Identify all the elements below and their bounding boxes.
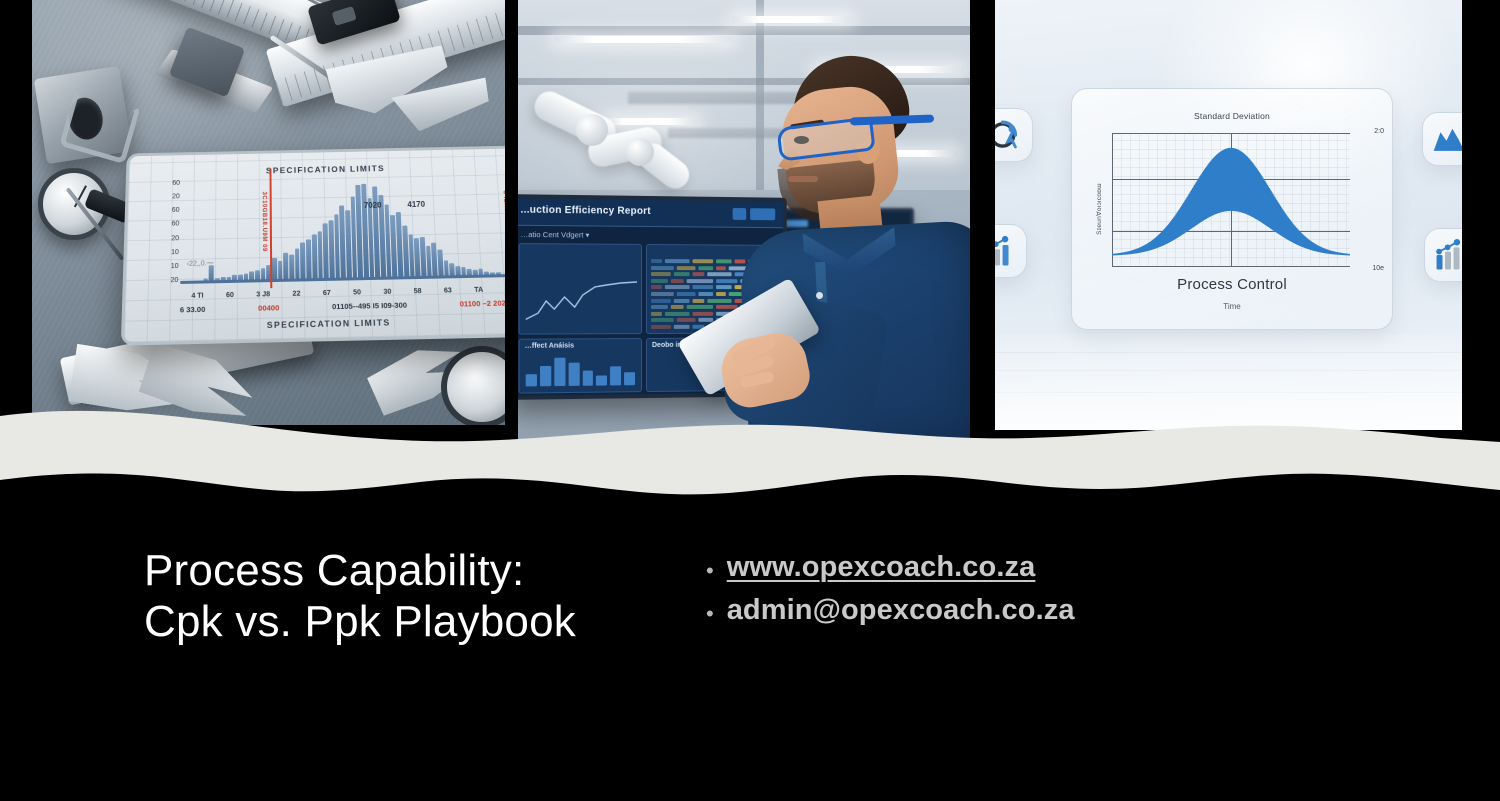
title-line-1: Process Capability:	[144, 545, 664, 596]
dashboard-title: ...uction Efficiency Report	[521, 204, 651, 217]
engineer-mouth	[788, 176, 818, 182]
engineer-figure	[728, 48, 970, 441]
bullet-icon: •	[706, 560, 714, 582]
process-control-chart-card: Standard Deviation Sɪeun∀oιɔιcoɒɯ 2:0 10…	[1071, 88, 1393, 330]
safety-glasses	[772, 118, 902, 152]
histogram-footnote: 01100 –2 202-3806	[459, 298, 505, 309]
line-bar-chart-icon	[1434, 238, 1462, 272]
defect-bars	[526, 355, 635, 386]
histogram-y-tick: 60	[172, 180, 180, 187]
trend-sparkline	[526, 279, 637, 326]
histogram-bar	[420, 237, 427, 279]
histogram-x-tick: 30	[383, 289, 391, 296]
contact-item-website[interactable]: • www.opexcoach.co.za	[706, 552, 1266, 584]
histogram-x-tick: 4 TI	[191, 293, 203, 300]
histogram-bar	[431, 242, 437, 278]
histogram-y-tick: 20	[171, 235, 179, 242]
histogram-x-tick: 3 J8	[256, 291, 270, 298]
histogram-plot-area	[180, 173, 505, 284]
histogram-bar	[328, 221, 334, 281]
histogram-bar	[283, 253, 288, 282]
hero-panel-process-control: Standard Deviation Sɪeun∀oιɔιcoɒɯ 2:0 10…	[995, 0, 1462, 430]
floor-streak-1	[995, 352, 1462, 353]
hero-panel-metrology-bench: SPECIFICATION LIMITS 6020606020101020 3C…	[32, 0, 505, 425]
histogram-y-tick: 10	[171, 249, 179, 256]
title-line-2: Cpk vs. Ppk Playbook	[144, 596, 664, 647]
histogram-y-tick: 20	[170, 277, 178, 284]
histogram-bars	[180, 173, 505, 284]
torn-paper-divider	[0, 398, 1500, 500]
waveform-path	[1112, 148, 1350, 255]
chart-x-axis-label: Time	[1072, 302, 1392, 311]
control-chart-waveform	[1112, 133, 1350, 267]
peak-label-1: 7020	[364, 201, 382, 210]
chart-plot-area: 2:0 10e	[1112, 133, 1350, 267]
specification-limits-chart-card: SPECIFICATION LIMITS 6020606020101020 3C…	[121, 146, 505, 346]
dashboard-trend-card	[518, 243, 642, 335]
histogram-bar	[312, 234, 318, 281]
chart-tick-bottom: 10e	[1372, 265, 1384, 272]
line-bar-chart-icon-card-right[interactable]	[1424, 228, 1462, 282]
histogram-y-tick: 10	[171, 263, 179, 270]
line-bar-chart-icon	[995, 234, 1017, 268]
dashboard-defect-card: …ffect Anáisis	[518, 338, 642, 394]
website-link[interactable]: www.opexcoach.co.za	[727, 552, 1036, 584]
email-address[interactable]: admin@opexcoach.co.za	[727, 595, 1075, 627]
chart-main-label: Process Control	[1072, 276, 1392, 293]
histogram-footnote: 00400	[258, 303, 279, 313]
peak-label-2: 4170	[407, 200, 425, 209]
hero-panel-factory-engineer: ...uction Efficiency Report …atio Cent V…	[518, 0, 970, 441]
histogram-x-tick: 58	[414, 288, 422, 295]
histogram-y-axis: 6020606020101020	[152, 180, 180, 285]
histogram-x-tick: TA	[474, 287, 483, 294]
chart-tick-top: 2:0	[1374, 128, 1384, 135]
shirt-button-1	[816, 292, 823, 299]
histogram-bar	[300, 242, 305, 281]
cycle-person-icon	[995, 118, 1023, 152]
histogram-bar	[306, 239, 311, 281]
area-chart-icon	[1432, 122, 1462, 156]
histogram-bar	[295, 248, 300, 281]
defect-card-title: …ffect Anáisis	[525, 342, 574, 349]
histogram-y-tick: 20	[172, 194, 180, 201]
robot-joint-1	[576, 114, 608, 146]
histogram-x-tick: 63	[444, 287, 452, 294]
histogram-x-tick: 67	[323, 290, 331, 297]
histogram-footnote: 6 33.00	[180, 305, 206, 315]
contact-list: • www.opexcoach.co.za • admin@opexcoach.…	[706, 552, 1266, 638]
histogram-bar	[317, 231, 323, 281]
lsl-label: 3C10GB18.U9M 09	[261, 192, 267, 252]
histogram-y-tick: 60	[171, 221, 179, 228]
floor-streak-3	[995, 392, 1462, 393]
bullet-icon: •	[706, 603, 714, 625]
robot-joint-2	[626, 138, 654, 166]
chart-title: Standard Deviation	[1072, 111, 1392, 121]
hero-image-band: SPECIFICATION LIMITS 6020606020101020 3C…	[0, 0, 1500, 500]
floor-streak-2	[995, 370, 1462, 371]
histogram-bar	[402, 225, 409, 279]
area-chart-icon-card[interactable]	[1422, 112, 1462, 166]
histogram-y-tick: 60	[172, 207, 180, 214]
histogram-footnote: 01105--495 I5 I09-300	[332, 300, 407, 311]
histogram-x-tick: 22	[292, 291, 300, 298]
cycle-person-icon-card[interactable]	[995, 108, 1033, 162]
dashboard-subtitle: …atio Cent Vdgert ▾	[521, 230, 590, 240]
histogram-bar	[437, 250, 443, 279]
histogram-x-tick: 60	[226, 292, 234, 299]
histogram-stray-annotation: ‹22,,0.⁓	[187, 259, 214, 268]
contact-item-email[interactable]: • admin@opexcoach.co.za	[706, 595, 1266, 627]
chart-y-axis-label: Sɪeun∀oιɔιcoɒɯ	[1096, 183, 1104, 235]
histogram-x-tick: 50	[353, 289, 361, 296]
slide-title-block: Process Capability: Cpk vs. Ppk Playbook	[144, 545, 664, 647]
safety-glasses-temple	[850, 115, 934, 126]
line-bar-chart-icon-card-left[interactable]	[995, 224, 1027, 278]
